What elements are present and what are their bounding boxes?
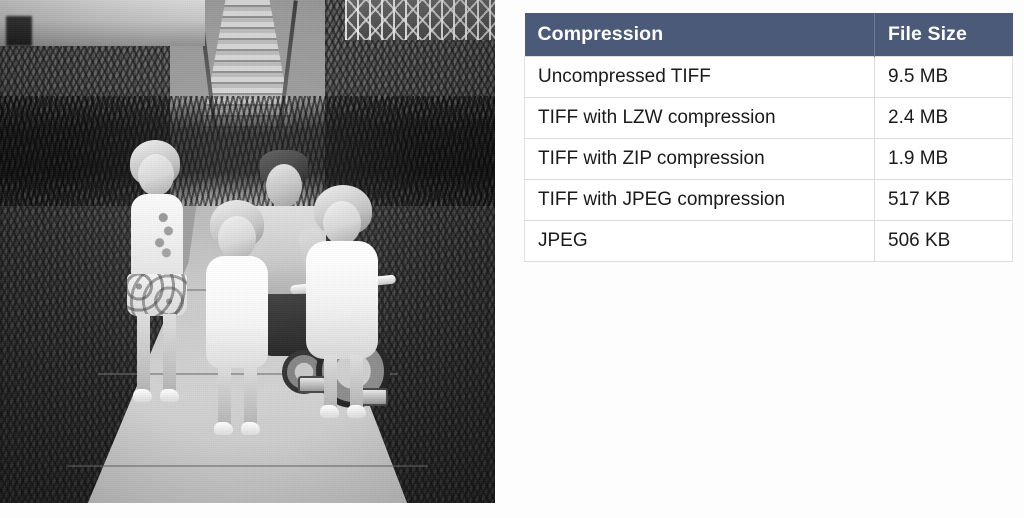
head (323, 201, 361, 245)
column-header-compression: Compression (525, 13, 875, 57)
table-row: TIFF with LZW compression 2.4 MB (525, 98, 1013, 139)
cell-file-size: 9.5 MB (875, 57, 1013, 98)
cell-file-size: 2.4 MB (875, 98, 1013, 139)
table-row: TIFF with JPEG compression 517 KB (525, 180, 1013, 221)
table-row: TIFF with ZIP compression 1.9 MB (525, 139, 1013, 180)
shoe (160, 389, 179, 402)
child-toddler-center (196, 200, 280, 425)
leg (324, 355, 337, 409)
shoe (241, 422, 260, 435)
house-shadow (6, 16, 32, 46)
shoe (347, 405, 366, 418)
head (138, 154, 174, 196)
cell-compression: JPEG (525, 221, 875, 262)
table-row: Uncompressed TIFF 9.5 MB (525, 57, 1013, 98)
child-girl-left (118, 140, 196, 425)
head (218, 216, 256, 260)
table-header: Compression File Size (525, 13, 1013, 57)
table-body: Uncompressed TIFF 9.5 MB TIFF with LZW c… (525, 57, 1013, 262)
leg (163, 314, 176, 392)
cell-file-size: 506 KB (875, 221, 1013, 262)
compression-file-size-table: Compression File Size Uncompressed TIFF … (524, 13, 1013, 262)
torso (131, 194, 183, 278)
cell-file-size: 517 KB (875, 180, 1013, 221)
cell-compression: TIFF with LZW compression (525, 98, 875, 139)
dress (206, 256, 268, 368)
photograph (0, 0, 495, 503)
sidewalk-seam (68, 465, 428, 467)
shoe (133, 389, 152, 402)
leg (218, 364, 231, 426)
photo-scene (0, 0, 495, 503)
house-background (0, 0, 205, 46)
shoe (214, 422, 233, 435)
bicycle-rack (345, 0, 495, 40)
shoe (320, 405, 339, 418)
shorts (127, 274, 187, 316)
cell-compression: TIFF with JPEG compression (525, 180, 875, 221)
child-toddler-right (300, 185, 390, 425)
cell-compression: Uncompressed TIFF (525, 57, 875, 98)
compression-table-panel: Compression File Size Uncompressed TIFF … (524, 13, 1012, 262)
cell-compression: TIFF with ZIP compression (525, 139, 875, 180)
table-header-row: Compression File Size (525, 13, 1013, 57)
dress (306, 241, 378, 359)
table-row: JPEG 506 KB (525, 221, 1013, 262)
leg (244, 364, 257, 426)
leg (350, 355, 363, 409)
leg (137, 314, 150, 392)
column-header-file-size: File Size (875, 13, 1013, 57)
cell-file-size: 1.9 MB (875, 139, 1013, 180)
